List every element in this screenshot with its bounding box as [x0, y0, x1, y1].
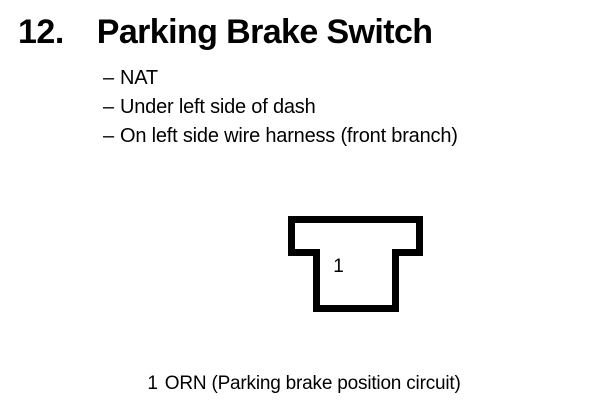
caption-pin-number: 1: [147, 373, 157, 394]
spec-list: – NAT – Under left side of dash – On lef…: [103, 64, 583, 151]
list-item: – NAT: [103, 64, 583, 93]
list-item: – Under left side of dash: [103, 93, 583, 122]
dash-bullet-icon: –: [103, 64, 120, 93]
list-item: – On left side wire harness (front branc…: [103, 122, 583, 151]
connector-pin-1-label: 1: [282, 256, 395, 278]
diagram-page: 12. Parking Brake Switch – NAT – Under l…: [0, 0, 608, 416]
dash-bullet-icon: –: [103, 122, 120, 151]
item-number: 12.: [18, 12, 64, 52]
page-title: 12. Parking Brake Switch: [18, 12, 432, 52]
list-item-label: NAT: [120, 64, 158, 93]
list-item-label: On left side wire harness (front branch): [120, 122, 458, 151]
dash-bullet-icon: –: [103, 93, 120, 122]
connector-diagram: 1: [282, 210, 428, 318]
circuit-caption: 1ORN (Parking brake position circuit): [0, 372, 608, 396]
caption-circuit-text: ORN (Parking brake position circuit): [165, 373, 461, 394]
component-title: Parking Brake Switch: [97, 12, 433, 52]
list-item-label: Under left side of dash: [120, 93, 316, 122]
